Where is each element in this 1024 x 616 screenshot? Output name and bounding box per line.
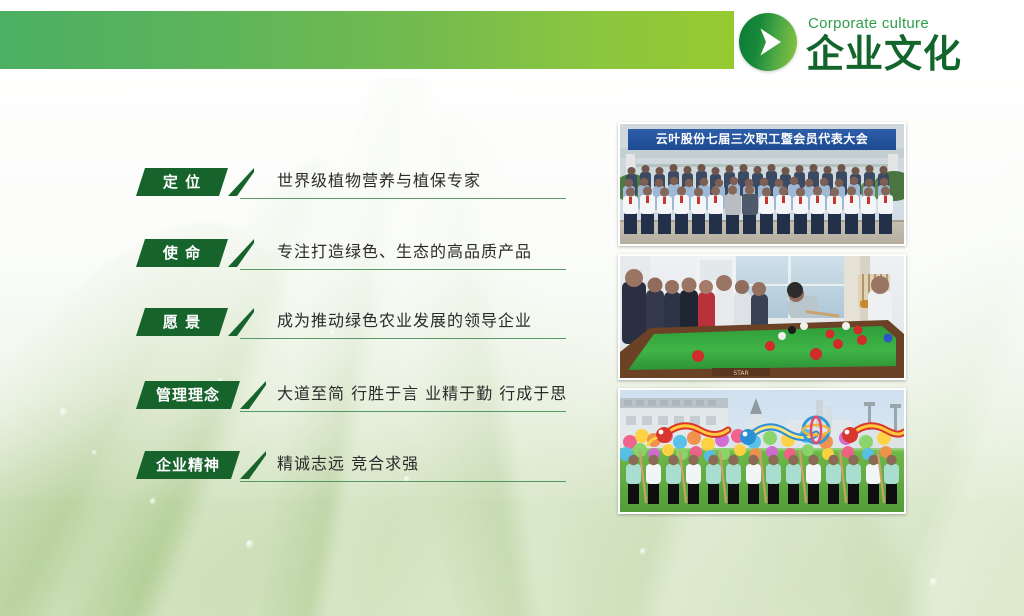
- value-text-spirit: 精诚志远 竞合求强: [277, 451, 419, 479]
- value-underline: [240, 269, 566, 270]
- badge-tail: [228, 308, 254, 336]
- badge-vision: 愿 景: [136, 308, 228, 336]
- badge-tail: [228, 239, 254, 267]
- photo-caption-banner: 云叶股份七届三次职工暨会员代表大会: [628, 129, 896, 150]
- photo-billiards-activity: STAR: [620, 256, 904, 378]
- badge-tail: [240, 381, 266, 409]
- svg-text:STAR: STAR: [733, 370, 748, 377]
- value-row-vision: 愿 景 成为推动绿色农业发展的领导企业: [136, 308, 576, 348]
- badge-positioning: 定 位: [136, 168, 228, 196]
- corporate-culture-slide: Corporate culture 企业文化 定 位 世界级植物营养与植保专家 …: [0, 0, 1024, 616]
- badge-corporate-spirit: 企业精神: [136, 451, 240, 479]
- value-row-mission: 使 命 专注打造绿色、生态的高品质产品: [136, 239, 576, 279]
- value-underline: [240, 411, 566, 412]
- value-text-vision: 成为推动绿色农业发展的领导企业: [277, 308, 532, 336]
- value-text-positioning: 世界级植物营养与植保专家: [277, 168, 481, 196]
- page-title: 企业文化: [806, 33, 962, 75]
- photo-card-dragon-dance[interactable]: [618, 388, 906, 514]
- value-row-management: 管理理念 大道至简 行胜于言 业精于勤 行成于思: [136, 381, 576, 421]
- header-subtitle-en: Corporate culture: [808, 15, 929, 32]
- value-row-positioning: 定 位 世界级植物营养与植保专家: [136, 168, 576, 208]
- value-text-mission: 专注打造绿色、生态的高品质产品: [277, 239, 532, 267]
- value-underline: [240, 198, 566, 199]
- badge-tail: [240, 451, 266, 479]
- badge-management-philosophy: 管理理念: [136, 381, 240, 409]
- value-statement-list: 定 位 世界级植物营养与植保专家 使 命 专注打造绿色、生态的高品质产品 愿 景…: [0, 0, 600, 616]
- group-photo-conference: 云叶股份七届三次职工暨会员代表大会: [620, 124, 904, 244]
- photo-gallery: 云叶股份七届三次职工暨会员代表大会: [618, 122, 908, 522]
- value-row-spirit: 企业精神 精诚志远 竞合求强: [136, 451, 576, 491]
- play-arrow-icon: [739, 13, 797, 71]
- value-underline: [240, 481, 566, 482]
- value-text-management: 大道至简 行胜于言 业精于勤 行成于思: [277, 381, 567, 409]
- photo-card-billiards[interactable]: STAR: [618, 254, 906, 380]
- badge-mission: 使 命: [136, 239, 228, 267]
- photo-card-conference[interactable]: 云叶股份七届三次职工暨会员代表大会: [618, 122, 906, 246]
- photo-dragon-dance-parade: [620, 390, 904, 512]
- badge-tail: [228, 168, 254, 196]
- value-underline: [240, 338, 566, 339]
